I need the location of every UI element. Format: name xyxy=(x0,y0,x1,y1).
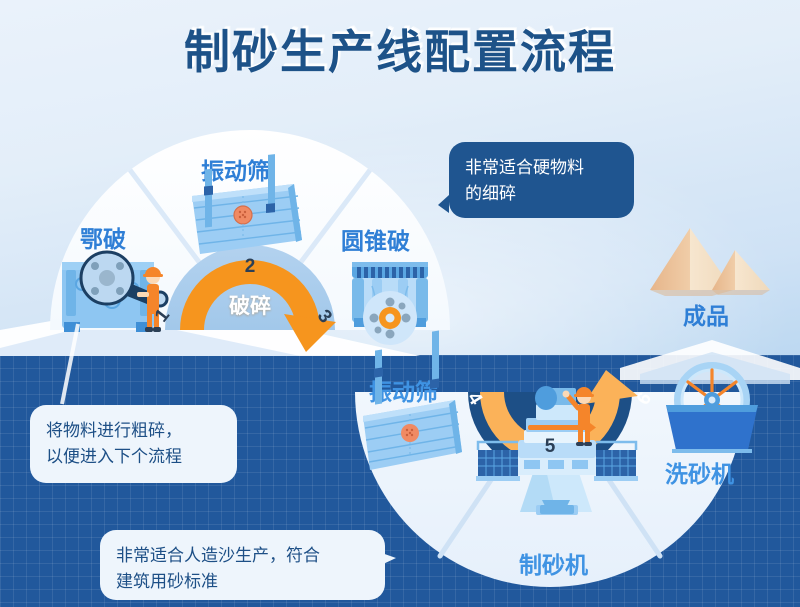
callout-line: 非常适合人造沙生产，符合 xyxy=(116,543,369,569)
callout-line: 非常适合硬物料 xyxy=(465,155,618,181)
callout-line: 建筑用砂标准 xyxy=(116,569,369,595)
callout-line: 的细碎 xyxy=(465,181,618,207)
callout-cone-crusher: 非常适合硬物料 的细碎 xyxy=(449,142,634,218)
callout-line: 将物料进行粗碎， xyxy=(46,418,221,444)
callout-line: 以便进入下个流程 xyxy=(46,444,221,470)
infographic-canvas: 制砂生产线配置流程 破碎 鄂破 xyxy=(0,0,800,607)
callout-connectors xyxy=(0,0,800,607)
callout-jaw-crusher: 将物料进行粗碎， 以便进入下个流程 xyxy=(30,405,237,483)
callout-sand-machine: 非常适合人造沙生产，符合 建筑用砂标准 xyxy=(100,530,385,600)
